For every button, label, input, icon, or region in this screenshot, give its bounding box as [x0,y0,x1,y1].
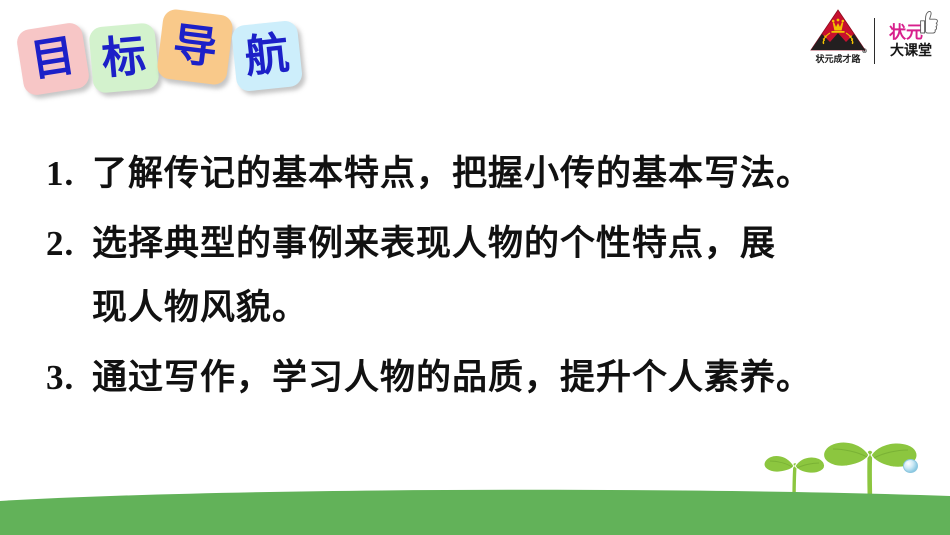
list-item: 3. 通过写作，学习人物的品质，提升个人素养。 [46,346,926,410]
title-tile-2: 标 [88,22,160,94]
list-item-text: 选择典型的事例来表现人物的个性特点，展 现人物风貌。 [92,212,926,340]
grass-band [0,487,950,535]
list-item-number: 2. [46,212,92,276]
title-tile-2-char: 标 [100,34,148,82]
title-tile-4-char: 航 [243,32,291,80]
crown-laurel-triangle-icon [810,9,866,51]
thumbs-up-icon [919,10,939,36]
brand-left-text: 状元成才路 ® [815,52,860,65]
objectives-list: 1. 了解传记的基本特点，把握小传的基本写法。 2. 选择典型的事例来表现人物的… [46,142,926,416]
page-title: 目 标 导 航 [8,4,318,104]
list-item-number: 3. [46,346,92,410]
brand-logo: 状元成才路 ® 状元 大课堂 [806,8,946,74]
title-tile-1: 目 [15,21,91,97]
brand-left-label: 状元成才路 [815,55,860,65]
list-item-text: 通过写作，学习人物的品质，提升个人素养。 [92,346,926,410]
brand-right-bottom-label: 大课堂 [890,44,932,58]
list-item-line-1: 选择典型的事例来表现人物的个性特点，展 [92,223,776,264]
registered-mark-icon: ® [862,48,868,55]
list-item-line-2: 现人物风貌。 [92,276,926,340]
list-item-number: 1. [46,142,92,206]
list-item: 1. 了解传记的基本特点，把握小传的基本写法。 [46,142,926,206]
list-item-line-1: 通过写作，学习人物的品质，提升个人素养。 [92,357,812,398]
water-droplet-icon [903,459,918,473]
title-tile-3-char: 导 [170,22,219,71]
title-tile-3: 导 [156,8,234,86]
brand-divider [874,18,875,64]
slide-canvas: 目 标 导 航 [0,0,950,535]
brand-right-top-label: 状元 [889,25,923,42]
list-item-line-1: 了解传记的基本特点，把握小传的基本写法。 [92,153,812,194]
brand-emblem-group: 状元成才路 ® [806,9,870,73]
title-tile-1-char: 目 [28,34,78,84]
brand-right-group: 状元 大课堂 [882,12,940,70]
title-tile-4: 航 [231,20,304,93]
list-item: 2. 选择典型的事例来表现人物的个性特点，展 现人物风貌。 [46,212,926,340]
list-item-text: 了解传记的基本特点，把握小传的基本写法。 [92,142,926,206]
